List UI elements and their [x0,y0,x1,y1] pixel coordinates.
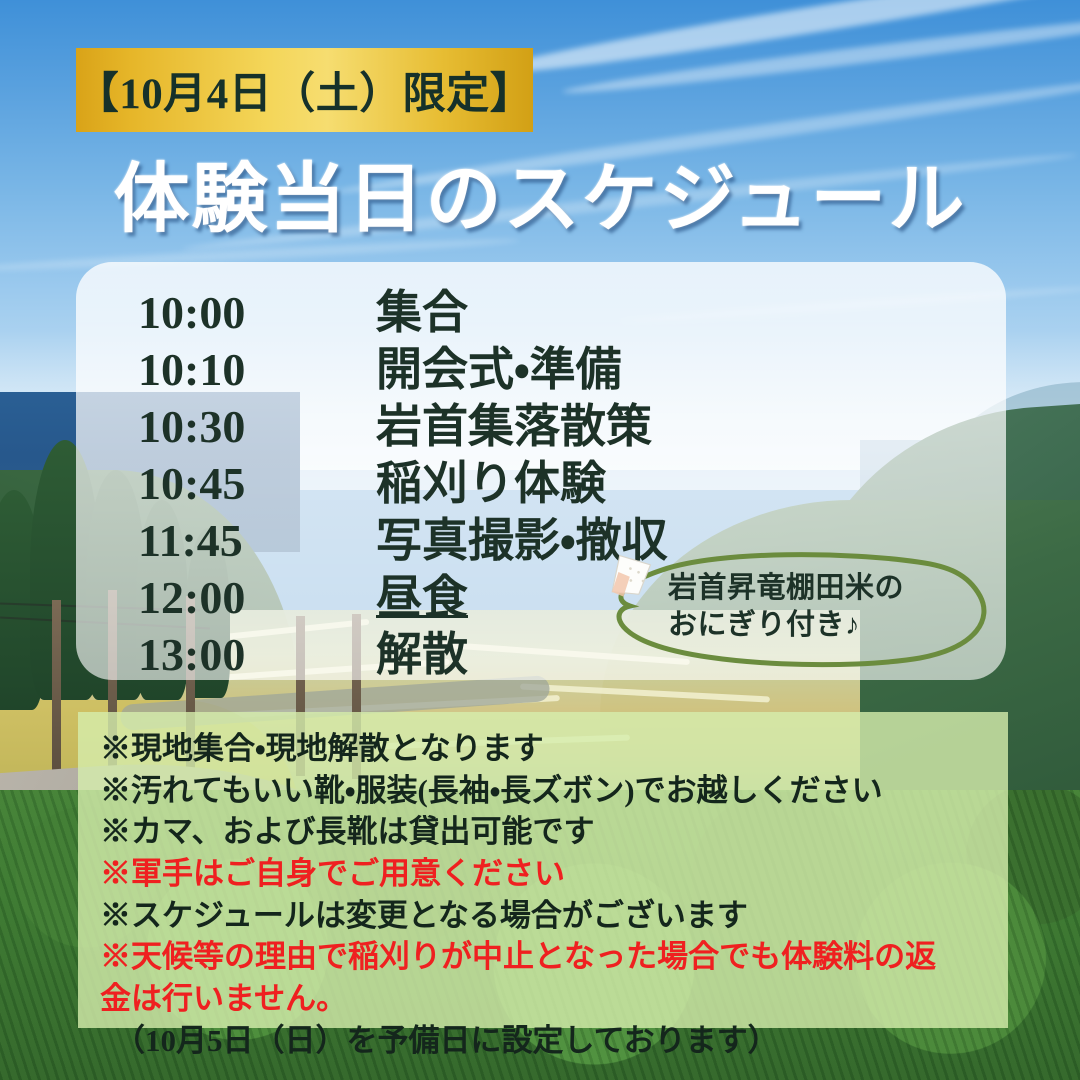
utility-pole [52,600,61,770]
schedule-activity: 解散 [376,618,468,684]
date-badge: 【10月4日（土）限定】 [76,48,533,132]
note-line-warning: 金は行いません。 [100,978,1008,1020]
schedule-row: 10:45 稲刈り体験 [76,447,1006,504]
poster-canvas: 【10月4日（土）限定】 体験当日のスケジュール 10:00 集合 10:10 … [0,0,1080,1080]
schedule-row: 10:30 岩首集落散策 [76,390,1006,447]
callout-text-block: 岩首昇竜棚田米の おにぎり付き♪ [668,570,988,644]
schedule-time: 10:10 [76,343,376,396]
note-line: ※カマ、および長靴は貸出可能です [100,811,1008,853]
note-line-warning: ※天候等の理由で稲刈りが中止となった場合でも体験料の返 [100,936,1008,978]
date-badge-label: 【10月4日（土）限定】 [76,59,534,121]
note-line: ※現地集合・現地解散となります [100,728,1008,770]
note-line: ※汚れてもいい靴・服装(長袖・長ズボン)でお越しください [100,770,1008,812]
note-line-warning: ※軍手はご自身でご用意ください [100,853,1008,895]
notes-box: ※現地集合・現地解散となります ※汚れてもいい靴・服装(長袖・長ズボン)でお越し… [78,712,1008,1028]
schedule-row: 10:10 開会式・準備 [76,333,1006,390]
callout-line-2: おにぎり付き♪ [668,607,988,644]
page-title: 体験当日のスケジュール [0,137,1080,247]
note-line: ※スケジュールは変更となる場合がございます [100,895,1008,937]
schedule-time: 13:00 [76,628,376,681]
schedule-time: 12:00 [76,571,376,624]
callout-line-1: 岩首昇竜棚田米の [668,570,988,607]
onigiri-callout: 岩首昇竜棚田米の おにぎり付き♪ [600,548,1000,672]
schedule-time: 10:00 [76,286,376,339]
schedule-row: 10:00 集合 [76,276,1006,333]
note-line-backup-date: （10月5日（日）を予備日に設定しております） [100,1020,1008,1062]
schedule-time: 10:30 [76,400,376,453]
schedule-time: 11:45 [76,514,376,567]
schedule-time: 10:45 [76,457,376,510]
